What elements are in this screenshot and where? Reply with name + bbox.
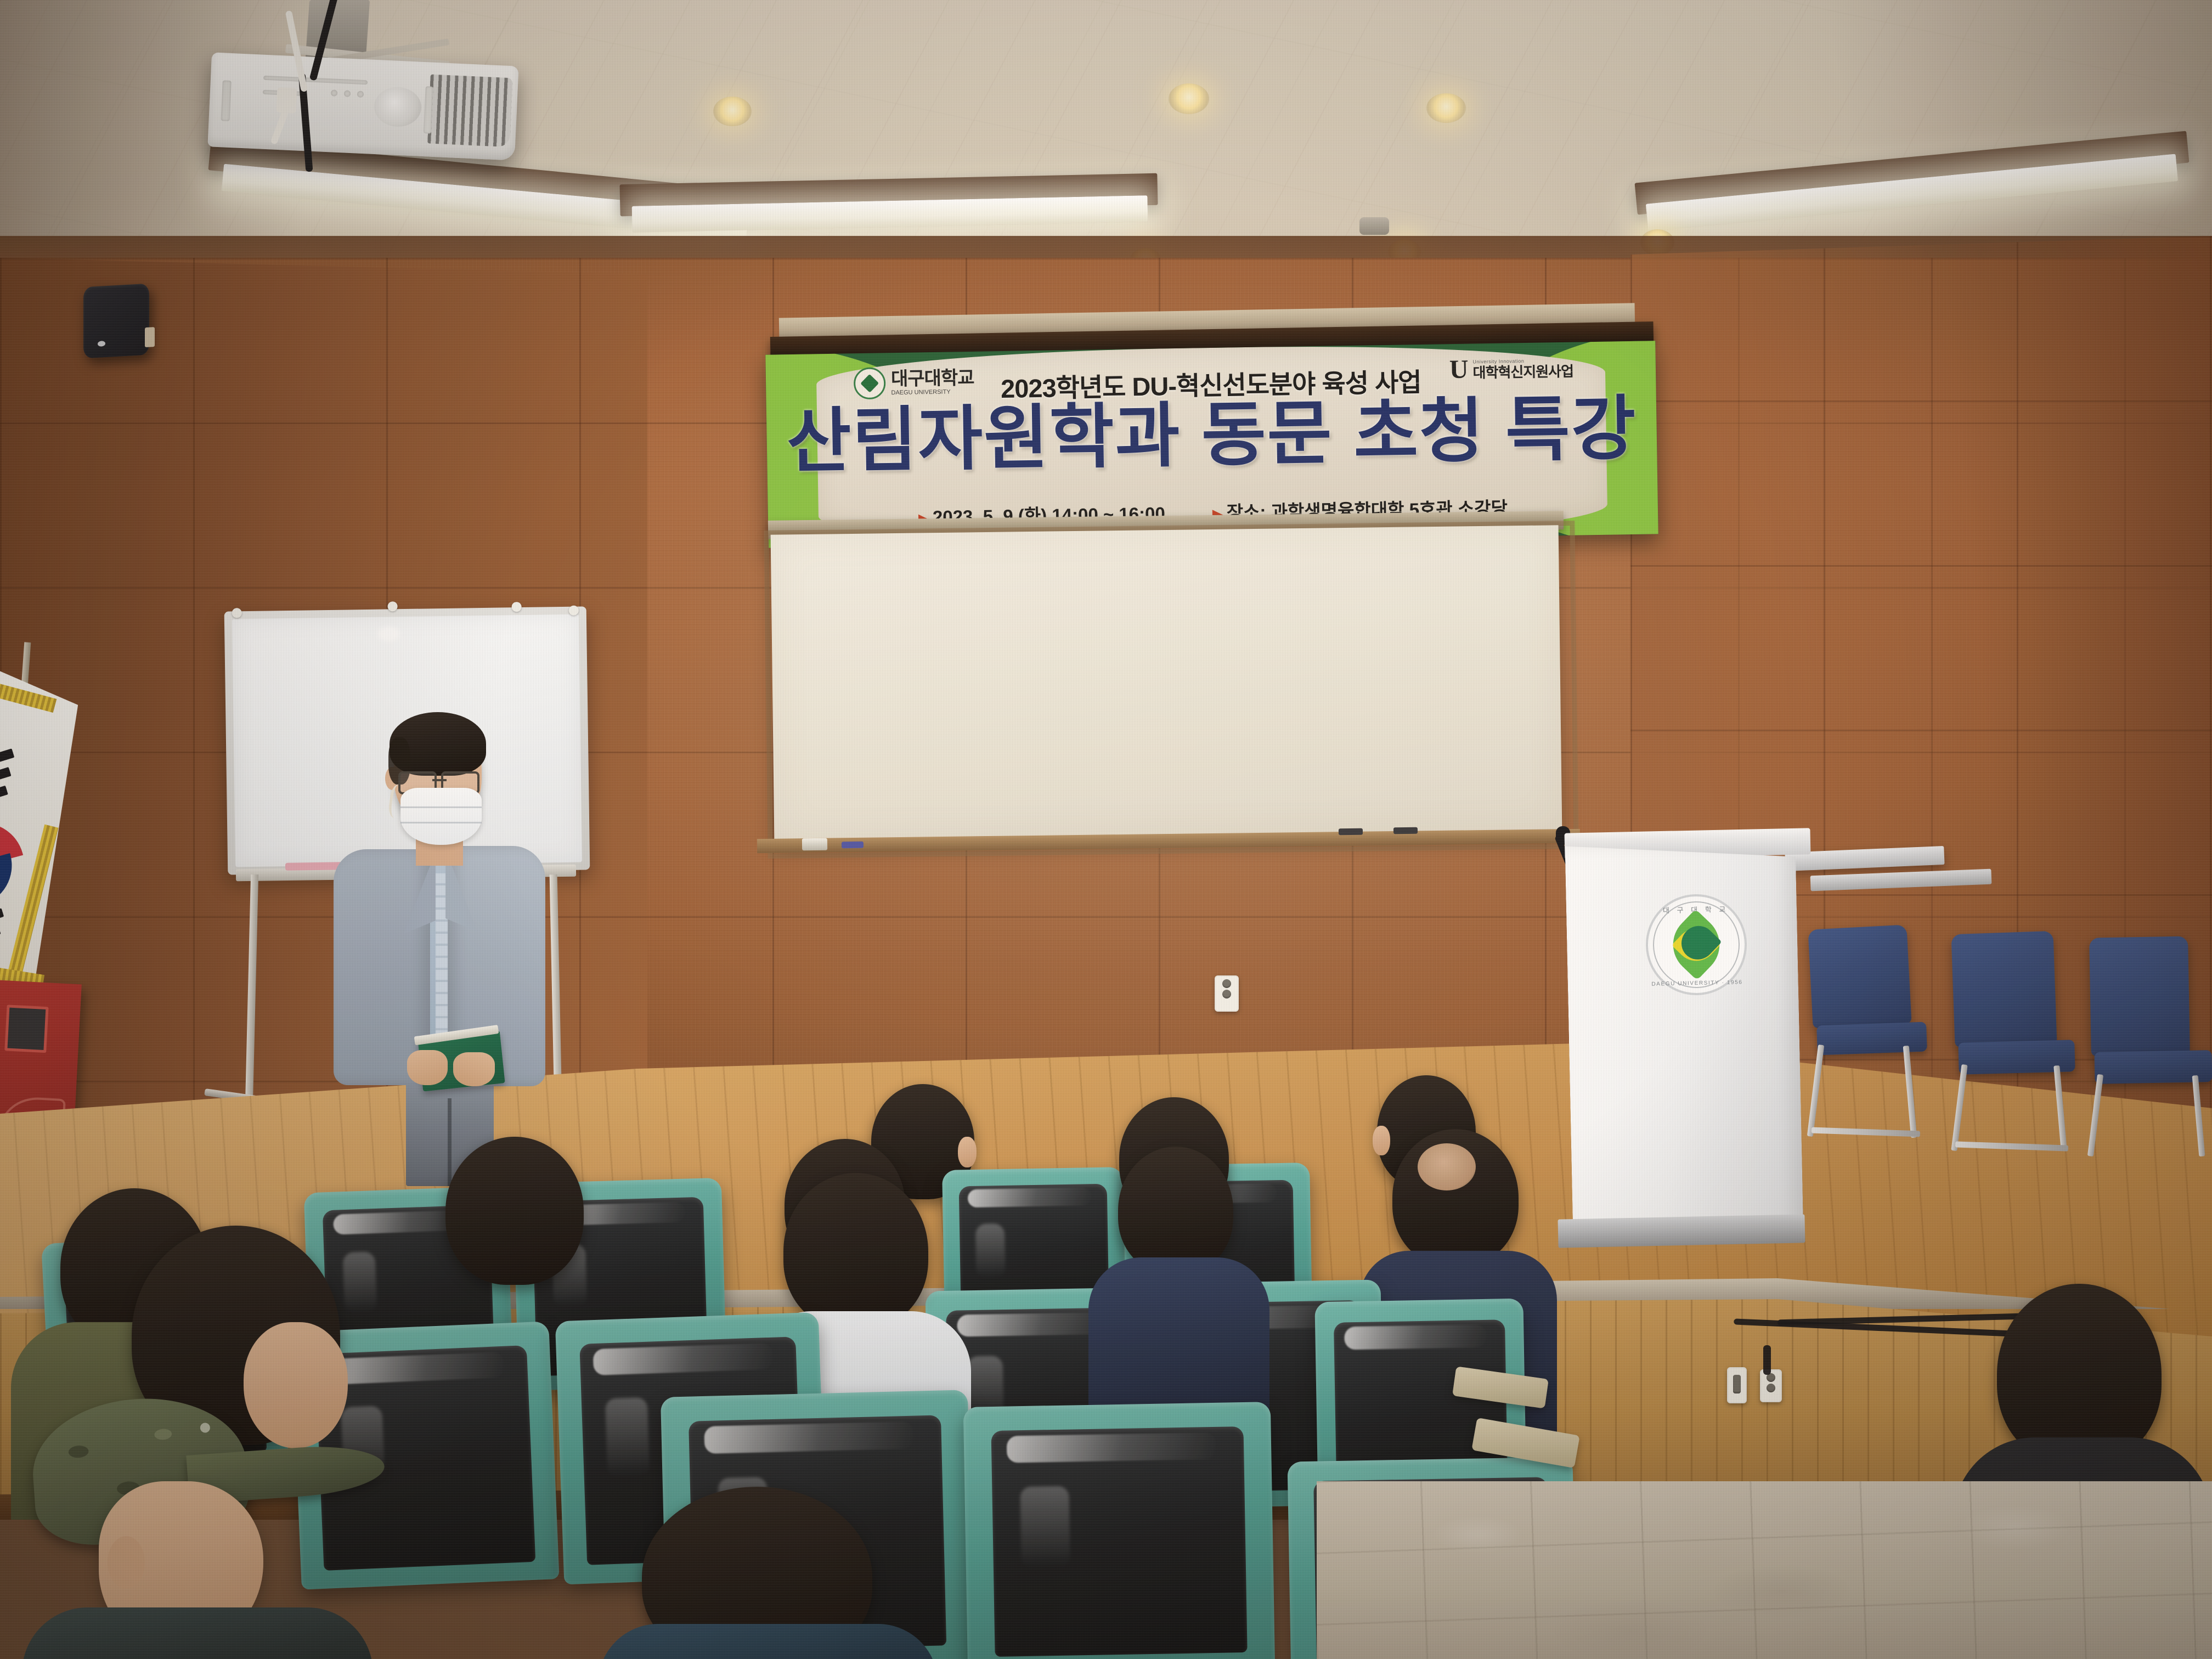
recessed-downlight (1426, 93, 1466, 123)
head-hair (445, 1137, 584, 1285)
head-face (244, 1322, 348, 1448)
recessed-downlight (1169, 83, 1209, 114)
head-bald-spot (1418, 1143, 1476, 1190)
wall-switch[interactable] (1727, 1367, 1747, 1403)
wall-cable (1763, 1345, 1771, 1375)
whiteboard-corner-cap (511, 602, 521, 612)
head-ear (1373, 1126, 1390, 1155)
smoke-detector (1359, 217, 1389, 235)
marker-pen (1393, 827, 1418, 834)
projector-slot (221, 80, 232, 121)
seat-highlight (342, 1251, 377, 1313)
projector-slot (331, 89, 338, 97)
chair-leg (2053, 1065, 2067, 1151)
projector-slot (344, 90, 351, 97)
speaker-bracket (145, 327, 155, 347)
wall-power-outlet[interactable] (1215, 975, 1239, 1012)
flag-trigram-bar (0, 926, 1, 951)
outlet-socket-icon (1767, 1384, 1775, 1392)
flag-trigram-bar (0, 786, 8, 814)
mask-pleat (400, 822, 482, 823)
mask-pleat (400, 806, 482, 808)
projector-lens (373, 86, 422, 128)
audience-shoulders (22, 1607, 373, 1659)
chair-back (1951, 931, 2057, 1047)
seat-highlight (704, 1421, 914, 1454)
head-hair (783, 1173, 928, 1330)
whiteboard-eraser (802, 838, 827, 851)
chair-leg-rail (1812, 1127, 1920, 1137)
blue-stacking-chair[interactable] (2090, 937, 2212, 1156)
speaker-led (98, 341, 105, 347)
banner-title: 산림자원학과 동문 초청 특강 (766, 393, 1657, 477)
projector-connector (276, 87, 297, 114)
presenter-hand-right (453, 1052, 495, 1086)
chair-leg (2087, 1074, 2103, 1156)
chair-back (1808, 924, 1911, 1028)
whiteboard-corner-cap (569, 606, 579, 616)
projector-slot (357, 91, 364, 98)
flag-taegeuk-blue (0, 853, 21, 916)
presenter-jacket-left (334, 849, 430, 1085)
chair-leg (1903, 1046, 1917, 1138)
audience-head (1118, 1147, 1233, 1274)
chair-back (2089, 936, 2190, 1056)
marker-pen (1339, 828, 1363, 836)
face-mask (400, 788, 482, 845)
chair-leg-rail (1955, 1141, 2068, 1151)
seat-highlight (1007, 1432, 1216, 1463)
presenter-hand-left (407, 1050, 448, 1085)
blue-stacking-chair[interactable] (1953, 933, 2090, 1152)
blue-stacking-chair[interactable] (1810, 927, 1948, 1141)
daegu-university-emblem: 대 구 대 학 교 DAEGU UNIVERSITY · 1956 (1645, 893, 1748, 996)
podium-base (1558, 1214, 1805, 1248)
recessed-downlight (713, 97, 752, 126)
chair-leg (1951, 1064, 1967, 1151)
presenter (324, 708, 554, 1180)
tile-floor (1317, 1481, 2212, 1659)
outlet-socket-icon (1222, 990, 1231, 998)
projector-vent (427, 75, 513, 148)
cabinet-label-plate (4, 1005, 48, 1053)
audience-head (445, 1137, 584, 1285)
marker-pen (842, 842, 864, 848)
head-hair (1118, 1147, 1233, 1274)
seat-highlight (1344, 1324, 1486, 1350)
seat-highlight (968, 1187, 1091, 1207)
flag-trigram-bar (0, 908, 4, 934)
eyeglass-bridge (432, 779, 447, 781)
switch-toggle-icon (1733, 1375, 1741, 1393)
audience-ear (108, 1536, 145, 1589)
outlet-socket-icon (1222, 979, 1231, 988)
floor-mottling (1317, 1481, 2212, 1659)
seat-highlight (605, 1397, 650, 1478)
seat-highlight (975, 1223, 1006, 1278)
chair-leg (2192, 1075, 2205, 1156)
lecture-hall-photo: 대구대학교 DAEGU UNIVERSITY U University Inno… (0, 0, 2212, 1659)
head-ear (958, 1137, 977, 1167)
wall-speaker (83, 284, 149, 359)
chair-seat (1816, 1022, 1927, 1056)
whiteboard-corner-cap (387, 601, 397, 611)
audience-head-balding (1392, 1129, 1519, 1266)
audience-head (783, 1173, 928, 1330)
seat-highlight (957, 1312, 1110, 1337)
ceiling-projector (207, 52, 518, 160)
audience-shoulders (598, 1624, 938, 1659)
projection-screen (771, 525, 1562, 842)
whiteboard-corner-cap (232, 608, 242, 618)
whiteboard-glare (378, 627, 400, 641)
wall-power-outlet[interactable] (1760, 1369, 1782, 1402)
auditorium-seat[interactable] (963, 1402, 1275, 1659)
seat-highlight (1020, 1486, 1070, 1568)
